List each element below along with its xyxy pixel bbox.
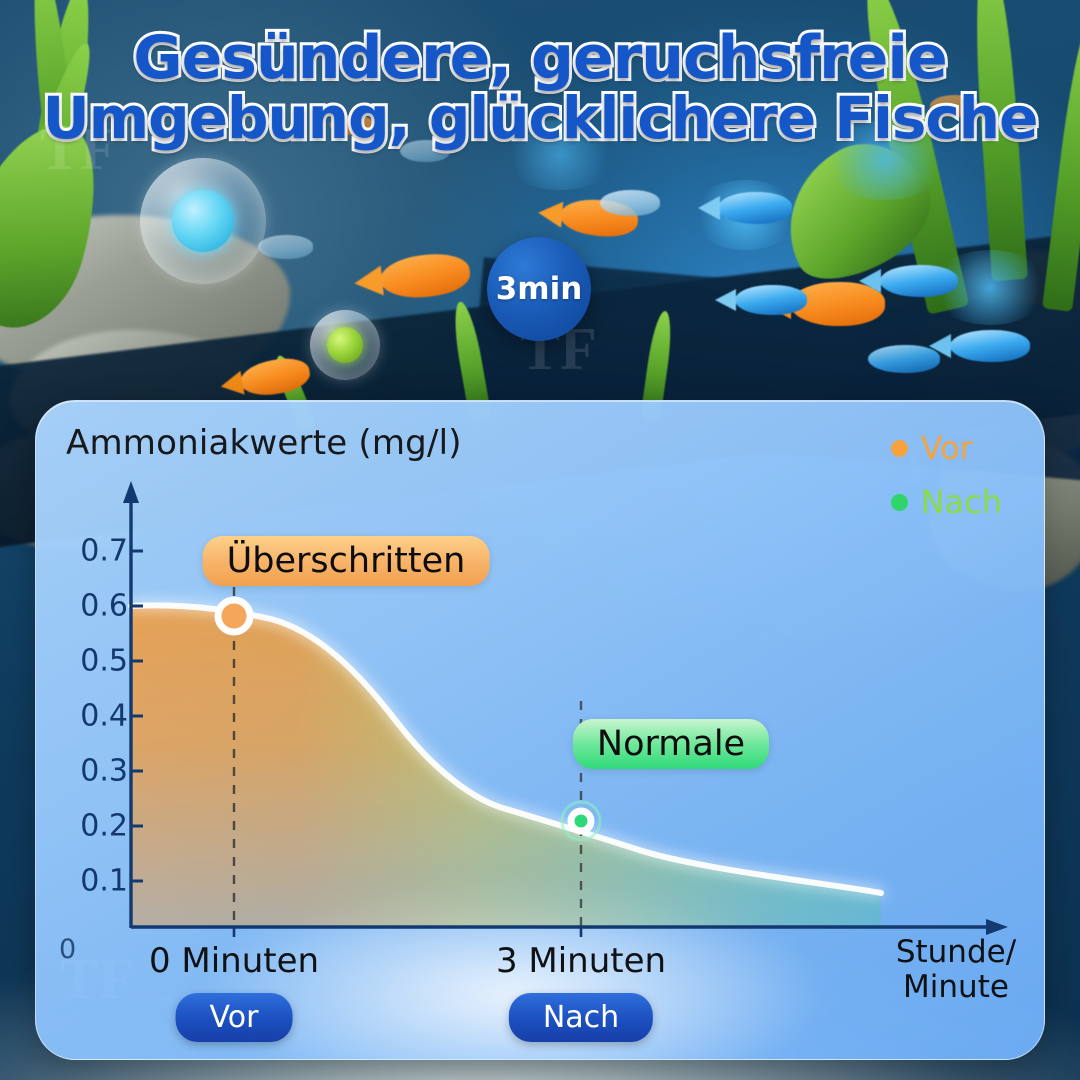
headline-line-1: Gesündere, geruchsfreie	[0, 28, 1080, 89]
y-tick-label: 0.2	[80, 809, 128, 844]
timer-badge: 3min	[487, 237, 591, 341]
annotation-normale: Normale	[573, 719, 769, 769]
chart-card: Ammoniakwerte (mg/l) Vor Nach	[35, 400, 1045, 1060]
fish	[600, 190, 660, 216]
y-tick-label: 0.4	[80, 699, 128, 734]
x-axis-caption-line-1: Stunde/	[896, 934, 1016, 970]
annotation-ueberschritten: Überschritten	[203, 536, 490, 586]
x-tick-label-nach: 3 Minuten	[496, 941, 666, 981]
fish	[868, 345, 940, 373]
data-point-marker-nach	[571, 811, 591, 831]
x-tick-label-vor: 0 Minuten	[149, 941, 319, 981]
microbe-core	[172, 190, 234, 252]
fish	[950, 330, 1030, 362]
y-tick-label: 0.6	[80, 589, 128, 624]
x-axis-caption-line-2: Minute	[903, 969, 1009, 1005]
x-badge-vor[interactable]: Vor	[176, 993, 293, 1042]
microbe-bubble	[310, 310, 380, 380]
x-badge-nach[interactable]: Nach	[509, 993, 653, 1042]
axis-origin-label: 0	[59, 934, 76, 965]
microbe-core	[327, 327, 363, 363]
x-axis-caption: Stunde/ Minute	[876, 935, 1036, 1004]
y-tick-label: 0.3	[80, 754, 128, 789]
fish	[718, 192, 792, 224]
fish	[880, 265, 958, 297]
data-point-marker-vor	[218, 600, 250, 632]
y-tick-label: 0.1	[80, 864, 128, 899]
headline-line-2: Umgebung, glücklichere Fische	[0, 89, 1080, 148]
page-title: Gesündere, geruchsfreie Umgebung, glückl…	[0, 28, 1080, 148]
x-axis-arrow-icon	[986, 919, 1008, 935]
microbe-bubble	[140, 158, 266, 284]
timer-badge-label: 3min	[496, 271, 583, 307]
y-tick-label: 0.5	[80, 644, 128, 679]
y-tick-label: 0.7	[80, 534, 128, 569]
fish	[735, 285, 807, 315]
fish	[258, 235, 313, 259]
